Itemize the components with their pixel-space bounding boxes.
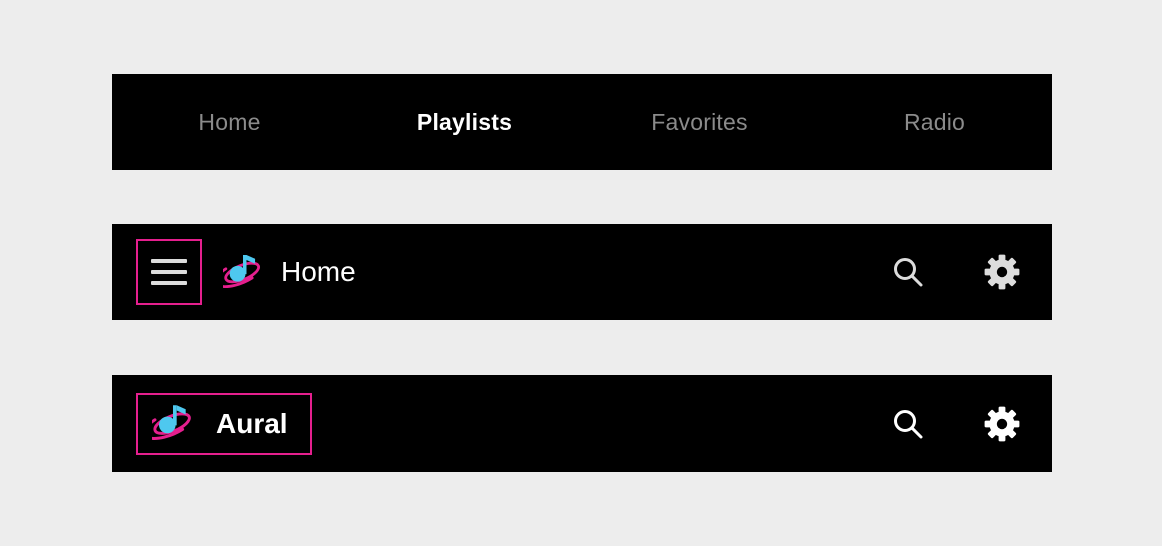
app-root: Home Playlists Favorites Radio — [0, 0, 1162, 546]
hamburger-menu-icon[interactable] — [136, 239, 202, 305]
toolbar-home-title: Home — [281, 258, 356, 286]
gear-icon[interactable] — [978, 400, 1026, 448]
toolbar-aural: Aural — [112, 375, 1052, 472]
brand-title-box[interactable]: Aural — [136, 393, 312, 455]
gear-icon[interactable] — [978, 248, 1026, 296]
menu-line-1 — [151, 259, 187, 263]
aural-planet-note-logo-icon — [152, 400, 194, 447]
aural-planet-note-logo-icon — [223, 250, 263, 295]
toolbar-home: Home — [112, 224, 1052, 320]
menu-line-2 — [151, 270, 187, 274]
search-icon[interactable] — [884, 400, 932, 448]
tab-bar: Home Playlists Favorites Radio — [112, 74, 1052, 170]
tab-playlists[interactable]: Playlists — [347, 111, 582, 134]
toolbar-aural-title: Aural — [216, 410, 288, 438]
search-icon[interactable] — [884, 248, 932, 296]
tab-radio[interactable]: Radio — [817, 111, 1052, 134]
tab-favorites[interactable]: Favorites — [582, 111, 817, 134]
tab-home[interactable]: Home — [112, 111, 347, 134]
menu-line-3 — [151, 281, 187, 285]
